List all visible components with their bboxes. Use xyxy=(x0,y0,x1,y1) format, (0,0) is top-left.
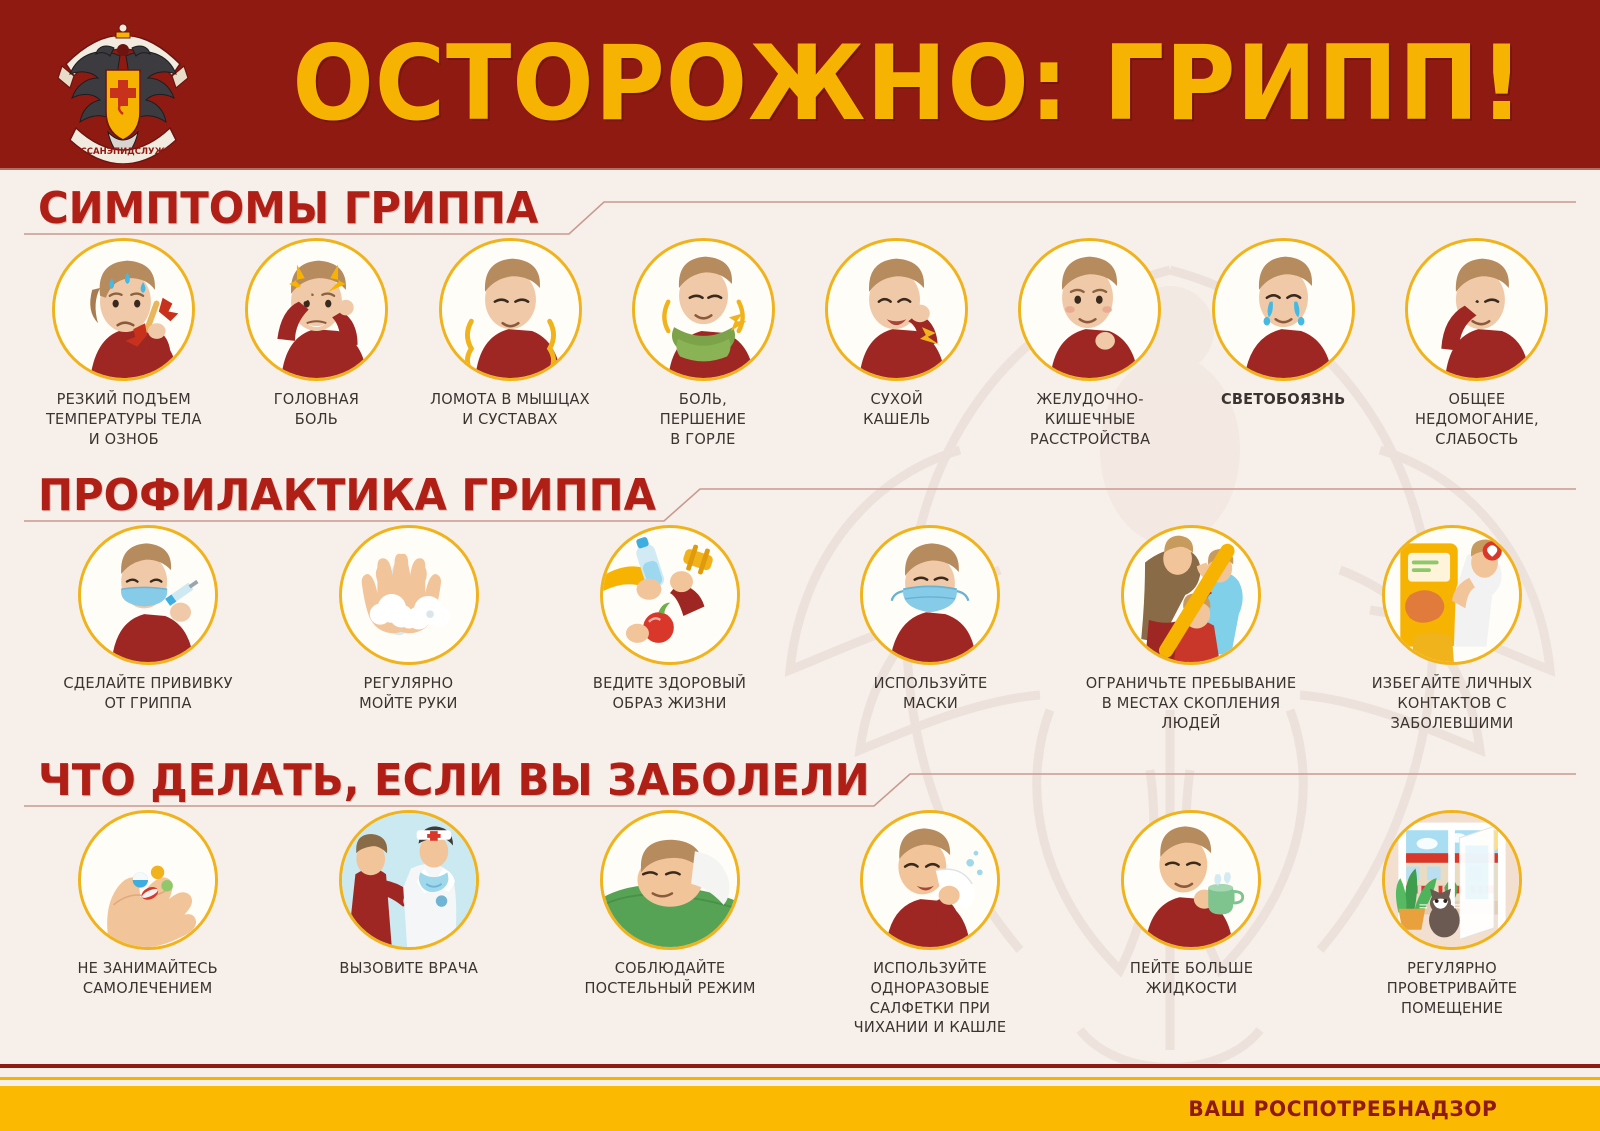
symptoms-grid: РЕЗКИЙ ПОДЪЕМ ТЕМПЕРАТУРЫ ТЕЛА И ОЗНОБ xyxy=(24,238,1576,449)
prevention-label: ОГРАНИЧЬТЕ ПРЕБЫВАНИЕ В МЕСТАХ СКОПЛЕНИЯ… xyxy=(1080,674,1302,733)
ventilate-room-icon xyxy=(1382,810,1522,950)
section-heading-symptoms: СИМПТОМЫ ГРИППА xyxy=(24,176,1576,238)
use-tissues-icon xyxy=(860,810,1000,950)
call-doctor-icon xyxy=(339,810,479,950)
symptom-item-headache: ГОЛОВНАЯ БОЛЬ xyxy=(223,238,410,430)
if-sick-label: ИСПОЛЬЗУЙТЕ ОДНОРАЗОВЫЕ САЛФЕТКИ ПРИ ЧИХ… xyxy=(819,959,1041,1038)
prevention-label: ВЕДИТЕ ЗДОРОВЫЙ ОБРАЗ ЖИЗНИ xyxy=(593,674,746,714)
if-sick-item-ventilate-room: РЕГУЛЯРНО ПРОВЕТРИВАЙТЕ ПОМЕЩЕНИЕ xyxy=(1334,810,1570,1018)
photophobia-icon xyxy=(1212,238,1355,381)
healthy-lifestyle-icon xyxy=(600,525,740,665)
prevention-item-wash-hands: РЕГУЛЯРНО МОЙТЕ РУКИ xyxy=(291,525,527,714)
symptom-item-sore-throat: БОЛЬ, ПЕРШЕНИЕ В ГОРЛЕ xyxy=(610,238,797,449)
symptom-label: ОБЩЕЕ НЕДОМОГАНИЕ, СЛАБОСТЬ xyxy=(1415,390,1539,449)
if-sick-item-drink-fluids: ПЕЙТЕ БОЛЬШЕ ЖИДКОСТИ xyxy=(1073,810,1309,999)
avoid-crowds-icon xyxy=(1121,525,1261,665)
symptom-label: БОЛЬ, ПЕРШЕНИЕ В ГОРЛЕ xyxy=(660,390,746,449)
symptom-item-fever: РЕЗКИЙ ПОДЪЕМ ТЕМПЕРАТУРЫ ТЕЛА И ОЗНОБ xyxy=(30,238,217,449)
prevention-item-vaccination: СДЕЛАЙТЕ ПРИВИВКУ ОТ ГРИППА xyxy=(30,525,266,714)
if-sick-item-use-tissues: ИСПОЛЬЗУЙТЕ ОДНОРАЗОВЫЕ САЛФЕТКИ ПРИ ЧИХ… xyxy=(812,810,1048,1038)
no-self-medication-icon xyxy=(78,810,218,950)
prevention-label: РЕГУЛЯРНО МОЙТЕ РУКИ xyxy=(360,674,458,714)
poster-root: 100 ЛЕТ xyxy=(0,0,1600,1131)
symptom-item-photophobia: СВЕТОБОЯЗНЬ xyxy=(1190,238,1377,410)
section-heading-if-sick: ЧТО ДЕЛАТЬ, ЕСЛИ ВЫ ЗАБОЛЕЛИ xyxy=(24,748,1576,810)
symptom-item-weakness: ОБЩЕЕ НЕДОМОГАНИЕ, СЛАБОСТЬ xyxy=(1383,238,1570,449)
drink-fluids-icon xyxy=(1121,810,1261,950)
prevention-label: ИСПОЛЬЗУЙТЕ МАСКИ xyxy=(874,674,988,714)
body-aches-icon xyxy=(439,238,582,381)
stomach-upset-icon xyxy=(1018,238,1161,381)
prevention-label: ИЗБЕГАЙТЕ ЛИЧНЫХ КОНТАКТОВ С ЗАБОЛЕВШИМИ xyxy=(1341,674,1563,733)
symptom-item-dry-cough: СУХОЙ КАШЕЛЬ xyxy=(803,238,990,430)
if-sick-item-no-self-medication: НЕ ЗАНИМАЙТЕСЬ САМОЛЕЧЕНИЕМ xyxy=(30,810,266,999)
if-sick-label: ПЕЙТЕ БОЛЬШЕ ЖИДКОСТИ xyxy=(1130,959,1253,999)
prevention-item-face-mask: ИСПОЛЬЗУЙТЕ МАСКИ xyxy=(812,525,1048,714)
if-sick-label: РЕГУЛЯРНО ПРОВЕТРИВАЙТЕ ПОМЕЩЕНИЕ xyxy=(1341,959,1563,1018)
if-sick-label: СОБЛЮДАЙТЕ ПОСТЕЛЬНЫЙ РЕЖИМ xyxy=(584,959,755,999)
symptom-label: СВЕТОБОЯЗНЬ xyxy=(1221,390,1346,410)
vaccination-icon xyxy=(78,525,218,665)
symptom-label: СУХОЙ КАШЕЛЬ xyxy=(863,390,930,430)
if-sick-label: НЕ ЗАНИМАЙТЕСЬ САМОЛЕЧЕНИЕМ xyxy=(78,959,218,999)
prevention-item-avoid-contact: ИЗБЕГАЙТЕ ЛИЧНЫХ КОНТАКТОВ С ЗАБОЛЕВШИМИ xyxy=(1334,525,1570,733)
poster-header: 100 ЛЕТ xyxy=(0,0,1600,170)
symptom-item-stomach-upset: ЖЕЛУДОЧНО- КИШЕЧНЫЕ РАССТРОЙСТВА xyxy=(996,238,1183,449)
footer-gap xyxy=(0,1068,1600,1077)
avoid-contact-icon xyxy=(1382,525,1522,665)
symptom-label: ЖЕЛУДОЧНО- КИШЕЧНЫЕ РАССТРОЙСТВА xyxy=(1030,390,1150,449)
prevention-grid: СДЕЛАЙТЕ ПРИВИВКУ ОТ ГРИППА xyxy=(24,525,1576,733)
sore-throat-icon xyxy=(632,238,775,381)
dry-cough-icon xyxy=(825,238,968,381)
if-sick-item-bed-rest: СОБЛЮДАЙТЕ ПОСТЕЛЬНЫЙ РЕЖИМ xyxy=(552,810,788,999)
fever-thermometer-icon xyxy=(52,238,195,381)
if-sick-grid: НЕ ЗАНИМАЙТЕСЬ САМОЛЕЧЕНИЕМ xyxy=(24,810,1576,1038)
headache-icon xyxy=(245,238,388,381)
svg-text:ГОССАНЭПИДСЛУЖБА: ГОССАНЭПИДСЛУЖБА xyxy=(68,147,179,157)
symptom-label: ГОЛОВНАЯ БОЛЬ xyxy=(274,390,359,430)
general-weakness-icon xyxy=(1405,238,1548,381)
prevention-item-healthy-lifestyle: ВЕДИТЕ ЗДОРОВЫЙ ОБРАЗ ЖИЗНИ xyxy=(552,525,788,714)
symptom-item-body-aches: ЛОМОТА В МЫШЦАХ И СУСТАВАХ xyxy=(417,238,604,430)
poster-footer: ВАШ РОСПОТРЕБНАДЗОР xyxy=(0,1064,1600,1131)
bed-rest-icon xyxy=(600,810,740,950)
wash-hands-icon xyxy=(339,525,479,665)
symptom-label: РЕЗКИЙ ПОДЪЕМ ТЕМПЕРАТУРЫ ТЕЛА И ОЗНОБ xyxy=(46,390,202,449)
rospotrebnadzor-emblem-icon: 100 ЛЕТ xyxy=(48,4,198,164)
if-sick-label: ВЫЗОВИТЕ ВРАЧА xyxy=(339,959,478,979)
section-heading-prevention: ПРОФИЛАКТИКА ГРИППА xyxy=(24,463,1576,525)
emblem-container: 100 ЛЕТ xyxy=(0,4,245,164)
footer-bar: ВАШ РОСПОТРЕБНАДЗОР xyxy=(0,1086,1600,1131)
page-title: ОСТОРОЖНО: ГРИПП! xyxy=(293,24,1553,144)
if-sick-item-call-doctor: ВЫЗОВИТЕ ВРАЧА xyxy=(291,810,527,979)
prevention-label: СДЕЛАЙТЕ ПРИВИВКУ ОТ ГРИППА xyxy=(63,674,232,714)
footer-text: ВАШ РОСПОТРЕБНАДЗОР xyxy=(1189,1097,1498,1121)
prevention-item-avoid-crowds: ОГРАНИЧЬТЕ ПРЕБЫВАНИЕ В МЕСТАХ СКОПЛЕНИЯ… xyxy=(1073,525,1309,733)
symptom-label: ЛОМОТА В МЫШЦАХ И СУСТАВАХ xyxy=(430,390,590,430)
face-mask-icon xyxy=(860,525,1000,665)
